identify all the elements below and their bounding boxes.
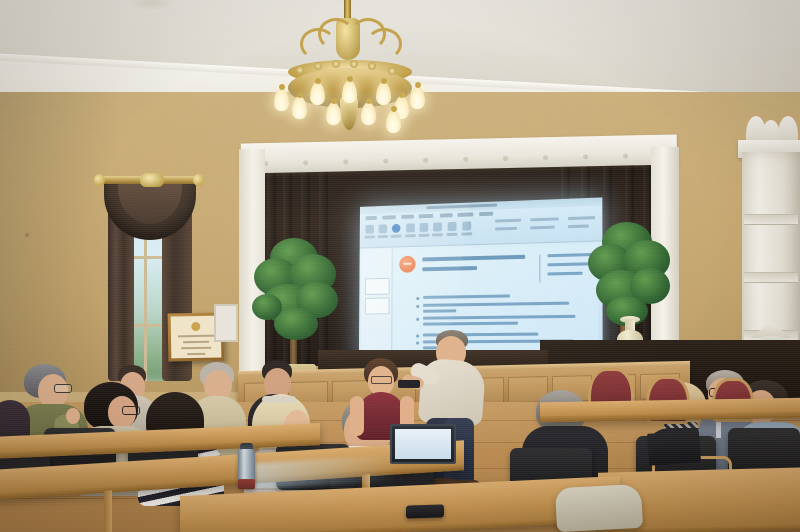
slide-divider <box>539 254 540 282</box>
wall-mark <box>25 233 29 237</box>
laptop[interactable] <box>390 424 456 464</box>
slide-thumbnail-pane <box>361 249 393 359</box>
slide-logo-badge <box>399 256 415 273</box>
tablet[interactable] <box>647 430 701 466</box>
chandelier-bulb <box>274 88 289 111</box>
chandelier <box>266 0 434 140</box>
stove-crown <box>746 114 796 142</box>
smartphone[interactable] <box>406 504 444 518</box>
chandelier-bulb <box>410 86 425 109</box>
photo-scene <box>0 0 800 532</box>
handheld-device <box>398 380 420 388</box>
shoulder-bag <box>555 484 643 532</box>
bottle-base <box>238 479 255 489</box>
small-picture-frame <box>214 304 238 342</box>
curtain-rod-ornament <box>140 173 164 187</box>
